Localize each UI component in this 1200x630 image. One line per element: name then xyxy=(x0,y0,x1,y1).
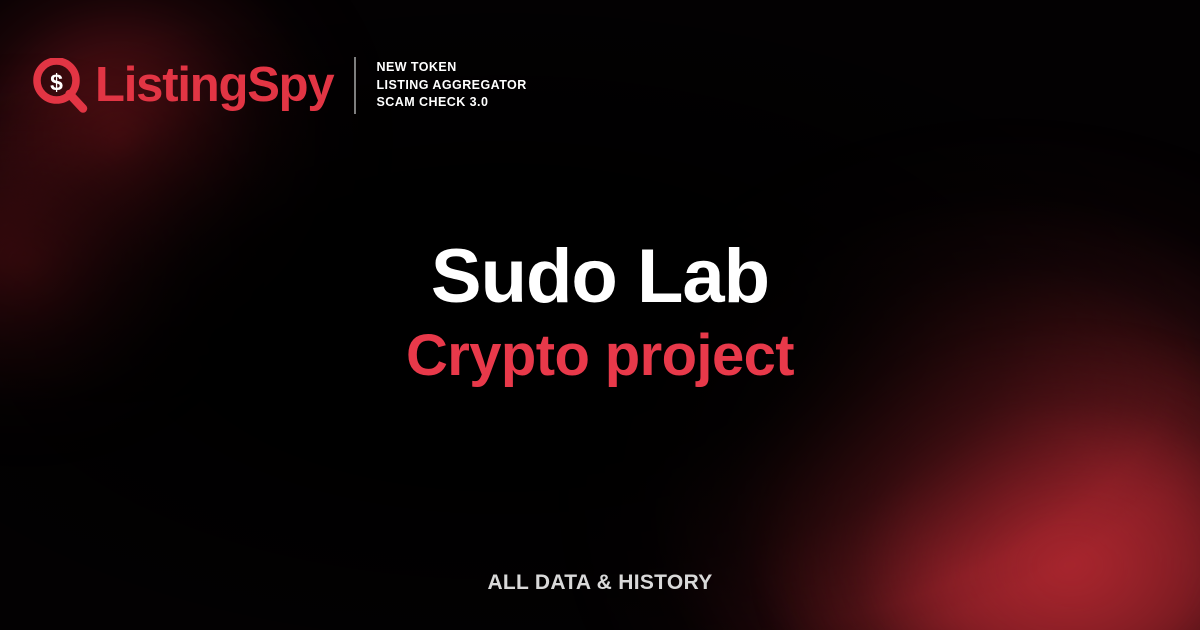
footer-caption: ALL DATA & HISTORY xyxy=(487,571,712,594)
page-title: Sudo Lab xyxy=(0,236,1200,318)
svg-text:$: $ xyxy=(50,69,63,95)
footer-block: ALL DATA & HISTORY xyxy=(0,571,1200,595)
magnifier-dollar-icon: $ xyxy=(33,58,89,114)
tagline-line-2: LISTING AGGREGATOR xyxy=(376,77,526,95)
og-card: $ ListingSpy NEW TOKEN LISTING AGGREGATO… xyxy=(0,0,1200,630)
brand-wordmark: ListingSpy xyxy=(95,61,333,110)
page-subtitle: Crypto project xyxy=(0,324,1200,388)
tagline-line-3: SCAM CHECK 3.0 xyxy=(376,94,526,112)
hero-block: Sudo Lab Crypto project xyxy=(0,236,1200,388)
brand-header[interactable]: $ ListingSpy NEW TOKEN LISTING AGGREGATO… xyxy=(33,57,527,114)
brand-divider xyxy=(354,57,356,114)
brand-tagline: NEW TOKEN LISTING AGGREGATOR SCAM CHECK … xyxy=(376,59,526,112)
tagline-line-1: NEW TOKEN xyxy=(376,59,526,77)
